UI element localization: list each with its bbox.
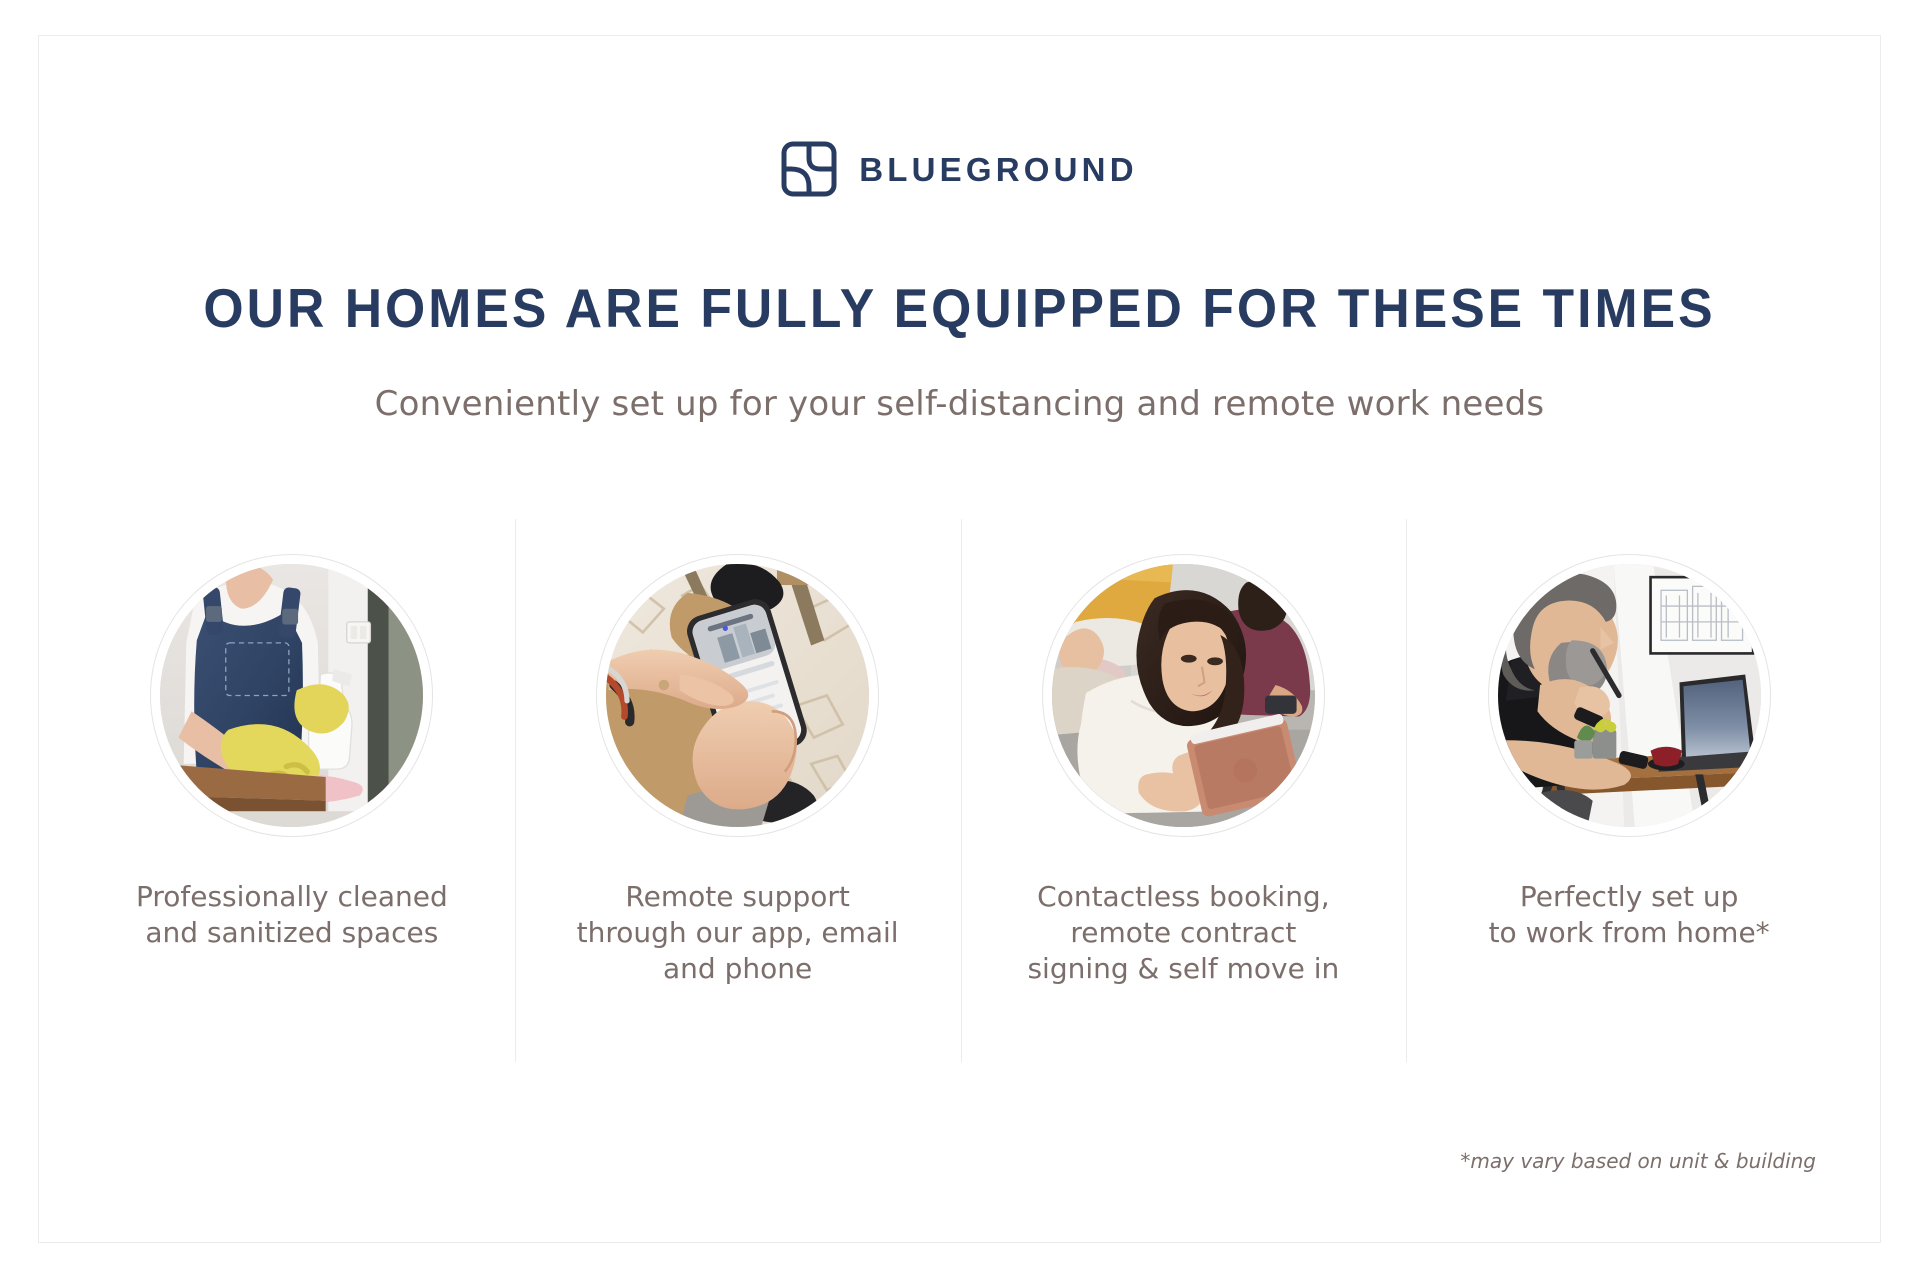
feature-caption: Contactless booking, remote contract sig… (1027, 879, 1339, 986)
hands-using-smartphone-app-photo (606, 564, 869, 827)
feature-caption: Remote support through our app, email an… (577, 879, 899, 986)
feature-image-ring (596, 554, 879, 837)
caption-line: and sanitized spaces (136, 915, 448, 951)
feature-item: Perfectly set up to work from home* (1406, 519, 1852, 986)
page-subtitle: Conveniently set up for your self-distan… (39, 384, 1880, 424)
brand-lockup: BLUEGROUND (39, 141, 1880, 197)
feature-item: Professionally cleaned and sanitized spa… (69, 519, 515, 986)
man-working-from-home-desk-photo (1498, 564, 1761, 827)
caption-line: Perfectly set up (1489, 879, 1770, 915)
blueground-square-logo-icon (781, 141, 837, 197)
feature-item: Remote support through our app, email an… (515, 519, 961, 986)
caption-line: Remote support (577, 879, 899, 915)
feature-item: Contactless booking, remote contract sig… (961, 519, 1407, 986)
cleaning-person-wiping-counter-photo (160, 564, 423, 827)
caption-line: remote contract (1027, 915, 1339, 951)
poster-card: BLUEGROUND Our Homes Are Fully Equipped … (38, 35, 1881, 1243)
caption-line: signing & self move in (1027, 951, 1339, 987)
feature-image-ring (1042, 554, 1325, 837)
woman-on-bed-with-tablet-photo (1052, 564, 1315, 827)
brand-name: BLUEGROUND (859, 153, 1138, 186)
footnote-text: *may vary based on unit & building (1460, 1149, 1816, 1173)
feature-caption: Professionally cleaned and sanitized spa… (136, 879, 448, 951)
feature-image-ring (150, 554, 433, 837)
caption-line: through our app, email (577, 915, 899, 951)
caption-line: Professionally cleaned (136, 879, 448, 915)
caption-line: and phone (577, 951, 899, 987)
feature-row: Professionally cleaned and sanitized spa… (69, 519, 1852, 986)
caption-line: Contactless booking, (1027, 879, 1339, 915)
page-title: Our Homes Are Fully Equipped For These T… (94, 276, 1825, 340)
feature-image-ring (1488, 554, 1771, 837)
feature-caption: Perfectly set up to work from home* (1489, 879, 1770, 951)
caption-line: to work from home* (1489, 915, 1770, 951)
